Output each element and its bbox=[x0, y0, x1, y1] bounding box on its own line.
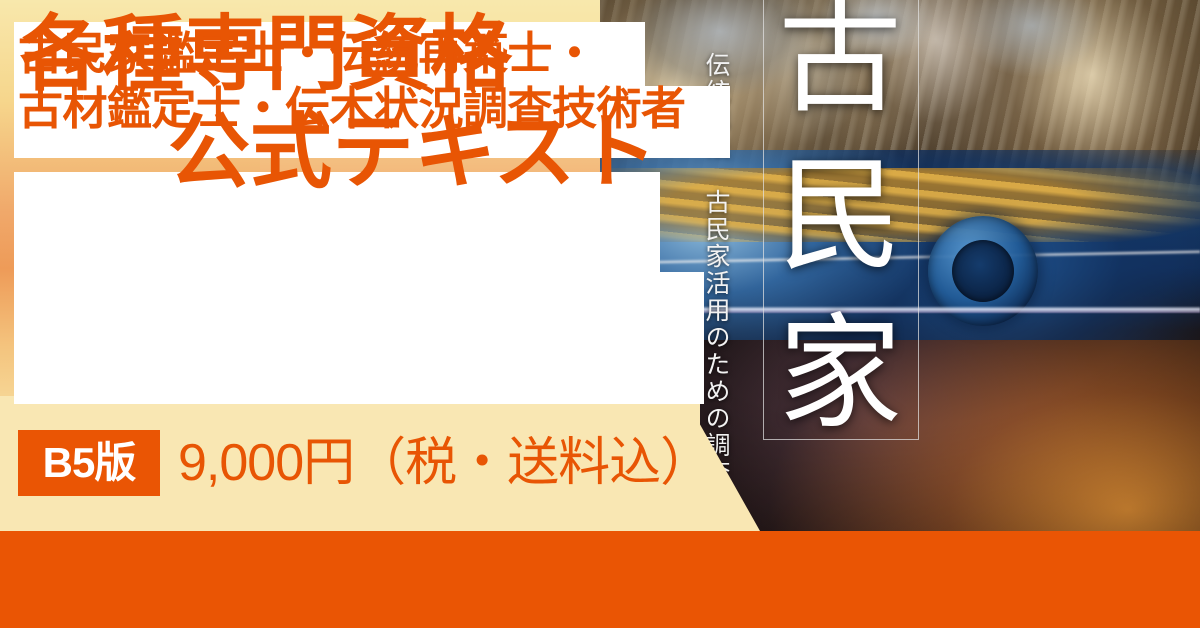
book-cover-title-char-1: 古 bbox=[778, 2, 902, 116]
book-cover-title-char-3: 家 bbox=[778, 318, 902, 432]
book-cover-title: 古 民 家 bbox=[776, 2, 904, 432]
title-panel bbox=[14, 172, 704, 404]
format-badge: B5版 bbox=[18, 430, 160, 496]
promo-banner: 古 民 家 伝統構法 古民家活用のための調査と再生の 古民家鑑定士・伝統再築士・… bbox=[0, 0, 1200, 628]
book-cover-title-char-2: 民 bbox=[778, 160, 902, 274]
title-line-2: 公式テキスト bbox=[168, 112, 658, 194]
cta-button[interactable]: 詳細・ご購入はこちら bbox=[0, 531, 1200, 628]
title-line-1: 各種専門資格 bbox=[20, 14, 512, 96]
price-label: 9,000円（税・送料込） bbox=[178, 433, 711, 493]
